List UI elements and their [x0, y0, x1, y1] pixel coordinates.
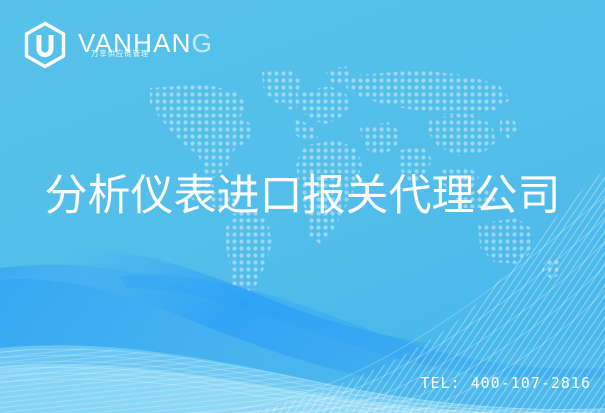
- promo-banner: VANHANG 万享供应链管理 分析仪表进口报关代理公司 TEL: 400-10…: [0, 0, 605, 413]
- vanhang-hexagon-mark-icon: [22, 21, 68, 69]
- brand-subtext: 万享供应链管理: [91, 49, 149, 58]
- brand-wordmark-accent: G: [192, 28, 213, 58]
- page-title: 分析仪表进口报关代理公司: [0, 168, 605, 224]
- brand-logo-text: VANHANG 万享供应链管理: [78, 22, 213, 68]
- contact-phone: TEL: 400-107-2816: [420, 374, 591, 392]
- brand-logo[interactable]: VANHANG 万享供应链管理: [22, 21, 213, 69]
